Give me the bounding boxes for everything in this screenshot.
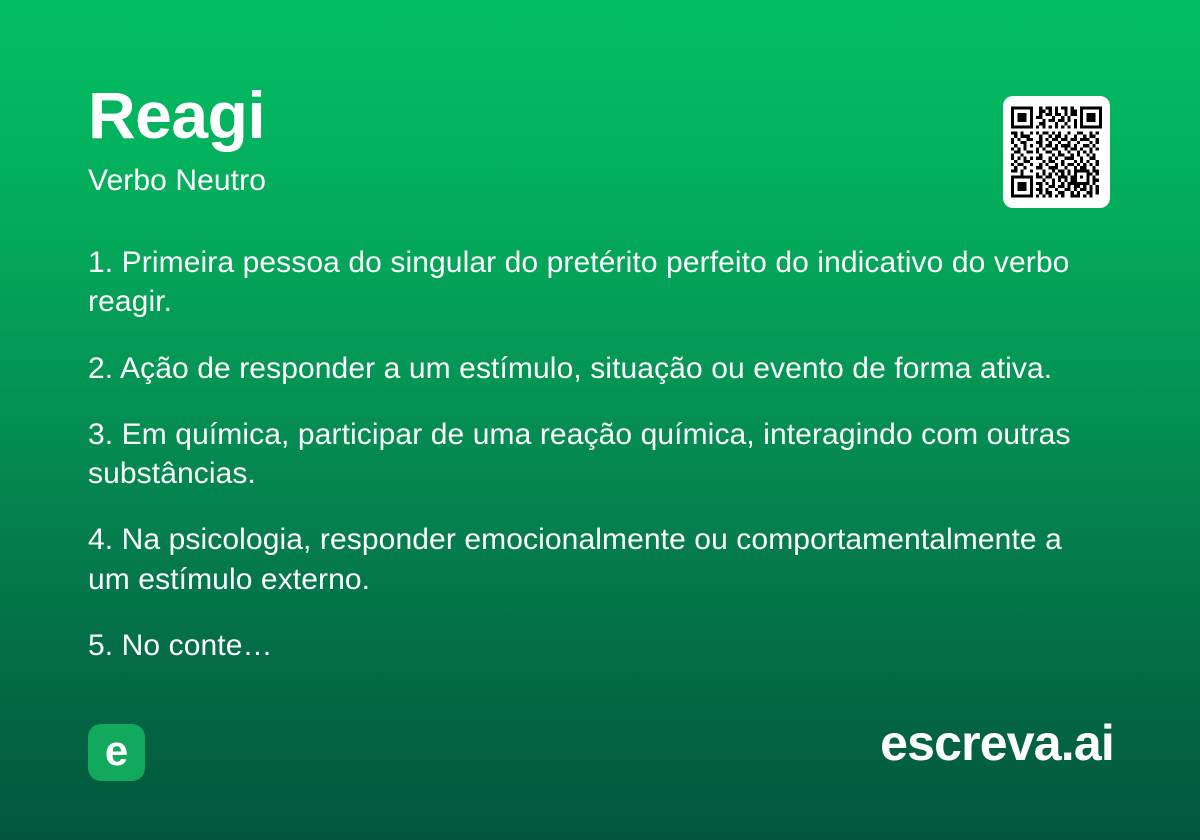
brand-logo-letter: e bbox=[105, 730, 128, 772]
definition-item: 2. Ação de responder a um estímulo, situ… bbox=[88, 349, 1098, 388]
brand-wordmark: escreva.ai bbox=[880, 718, 1114, 768]
part-of-speech-label: Verbo Neutro bbox=[88, 166, 266, 196]
definition-item: 5. No conte… bbox=[88, 626, 1098, 665]
qr-code[interactable] bbox=[1003, 96, 1110, 208]
definition-item: 4. Na psicologia, responder emocionalmen… bbox=[88, 520, 1098, 599]
definition-item: 3. Em química, participar de uma reação … bbox=[88, 415, 1098, 494]
page-title: Reagi bbox=[88, 82, 265, 148]
brand-logo-badge: e bbox=[88, 724, 145, 781]
qr-code-icon bbox=[1011, 105, 1102, 199]
definition-list: 1. Primeira pessoa do singular do pretér… bbox=[88, 243, 1098, 665]
definition-card: Reagi Verbo Neutro bbox=[0, 0, 1200, 840]
definition-item: 1. Primeira pessoa do singular do pretér… bbox=[88, 243, 1098, 322]
